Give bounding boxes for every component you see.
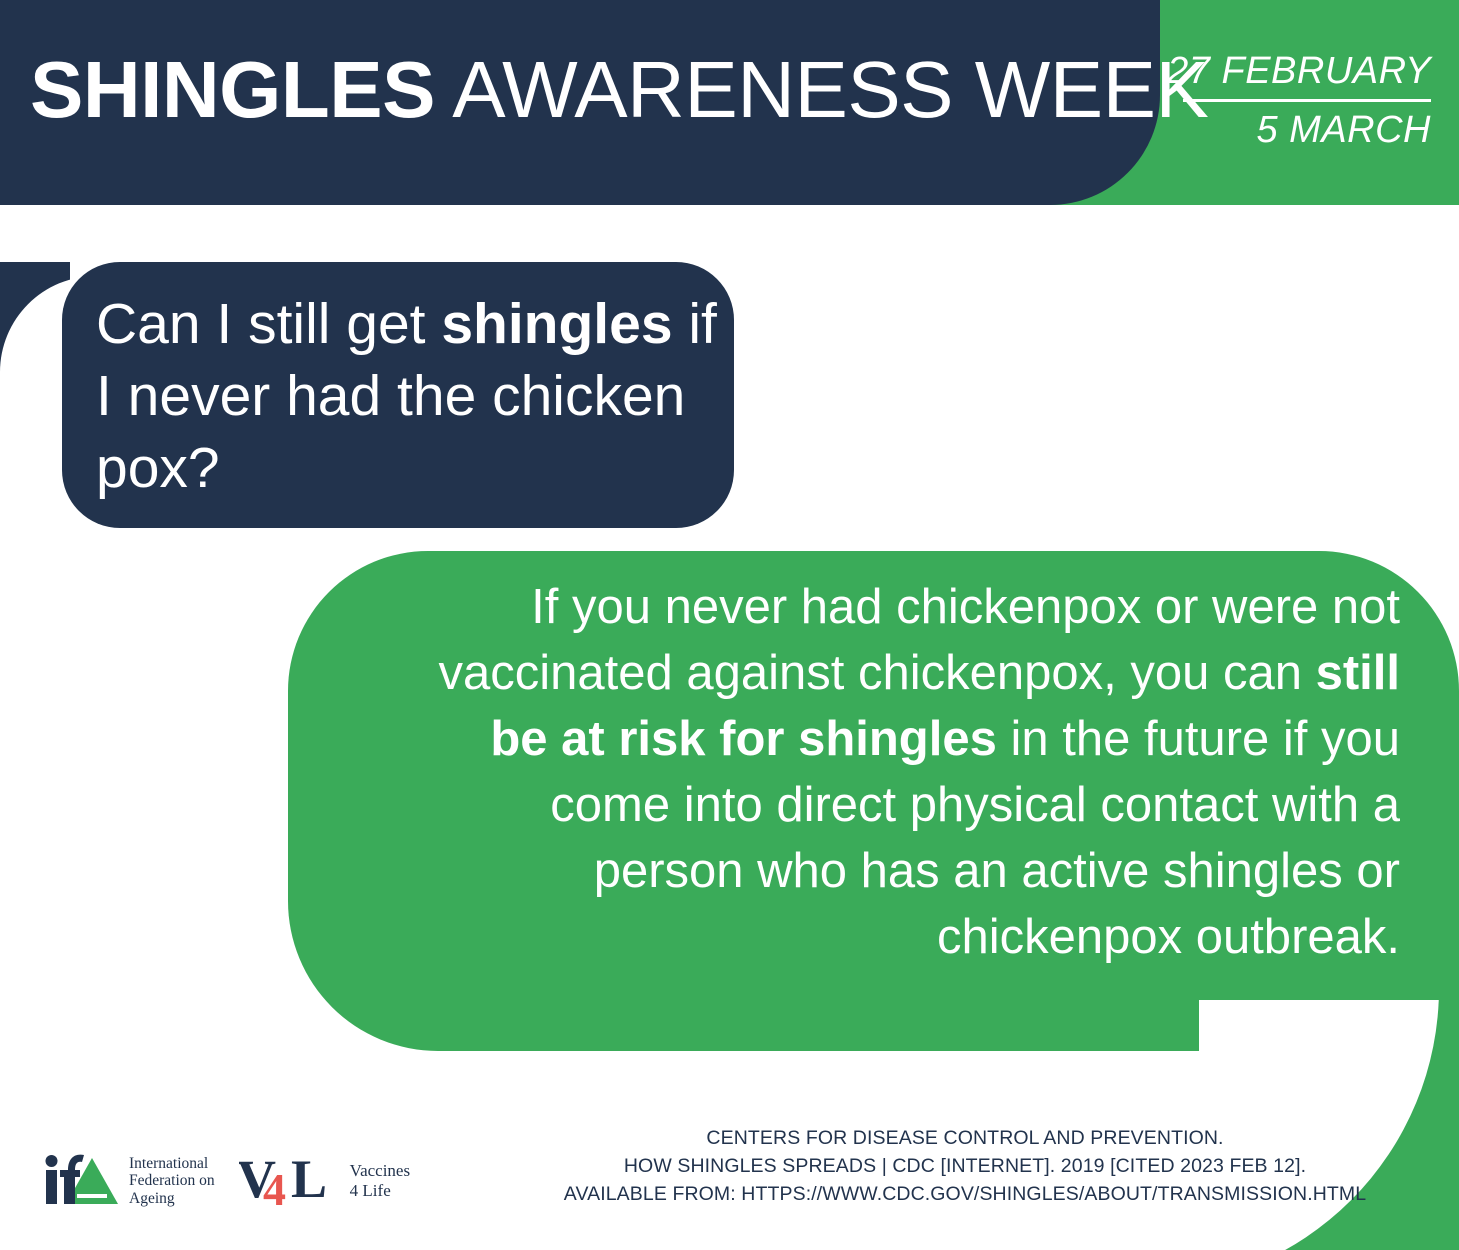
citation-line-1: CENTERS FOR DISEASE CONTROL AND PREVENTI… bbox=[520, 1124, 1410, 1152]
date-divider bbox=[1183, 99, 1431, 102]
header-banner: SHINGLES AWARENESS WEEK 27 FEBRUARY 5 MA… bbox=[0, 0, 1459, 205]
ifa-logo: International Federation on Ageing bbox=[44, 1152, 215, 1210]
ifa-name-line-3: Ageing bbox=[129, 1190, 215, 1208]
question-text-bold: shingles bbox=[441, 292, 672, 356]
question-text-part1: Can I still get bbox=[96, 292, 441, 356]
svg-text:4: 4 bbox=[263, 1164, 286, 1209]
page-title: SHINGLES AWARENESS WEEK bbox=[30, 44, 1130, 136]
question-text: Can I still get shingles if I never had … bbox=[96, 288, 736, 504]
answer-text-part1: If you never had chickenpox or were not … bbox=[438, 580, 1400, 700]
page-title-rest: AWARENESS WEEK bbox=[435, 45, 1208, 134]
page-title-bold: SHINGLES bbox=[30, 45, 435, 134]
v4l-logo: V 4 L Vaccines 4 Life bbox=[239, 1153, 410, 1209]
logo-group: International Federation on Ageing V 4 L… bbox=[44, 1152, 410, 1210]
answer-text: If you never had chickenpox or were not … bbox=[390, 574, 1400, 970]
question-bubble-tail bbox=[0, 262, 70, 412]
v4l-logo-wordmark: Vaccines 4 Life bbox=[350, 1161, 410, 1201]
ifa-logomark-icon bbox=[44, 1152, 120, 1210]
v4l-logomark-icon: V 4 L bbox=[239, 1153, 341, 1209]
infographic-poster: SHINGLES AWARENESS WEEK 27 FEBRUARY 5 MA… bbox=[0, 0, 1459, 1250]
citation-line-3: AVAILABLE FROM: HTTPS://WWW.CDC.GOV/SHIN… bbox=[520, 1180, 1410, 1208]
citation-line-2: HOW SHINGLES SPREADS | CDC [INTERNET]. 2… bbox=[520, 1152, 1410, 1180]
ifa-name-line-1: International bbox=[129, 1155, 215, 1173]
svg-text:L: L bbox=[291, 1153, 327, 1209]
v4l-name-line-1: Vaccines bbox=[350, 1161, 410, 1181]
citation-block: CENTERS FOR DISEASE CONTROL AND PREVENTI… bbox=[520, 1124, 1410, 1208]
event-dates: 27 FEBRUARY 5 MARCH bbox=[1167, 46, 1431, 155]
v4l-name-line-2: 4 Life bbox=[350, 1181, 410, 1201]
date-end: 5 MARCH bbox=[1167, 105, 1431, 155]
date-start: 27 FEBRUARY bbox=[1167, 46, 1431, 96]
ifa-name-line-2: Federation on bbox=[129, 1172, 215, 1190]
ifa-logo-wordmark: International Federation on Ageing bbox=[129, 1155, 215, 1208]
